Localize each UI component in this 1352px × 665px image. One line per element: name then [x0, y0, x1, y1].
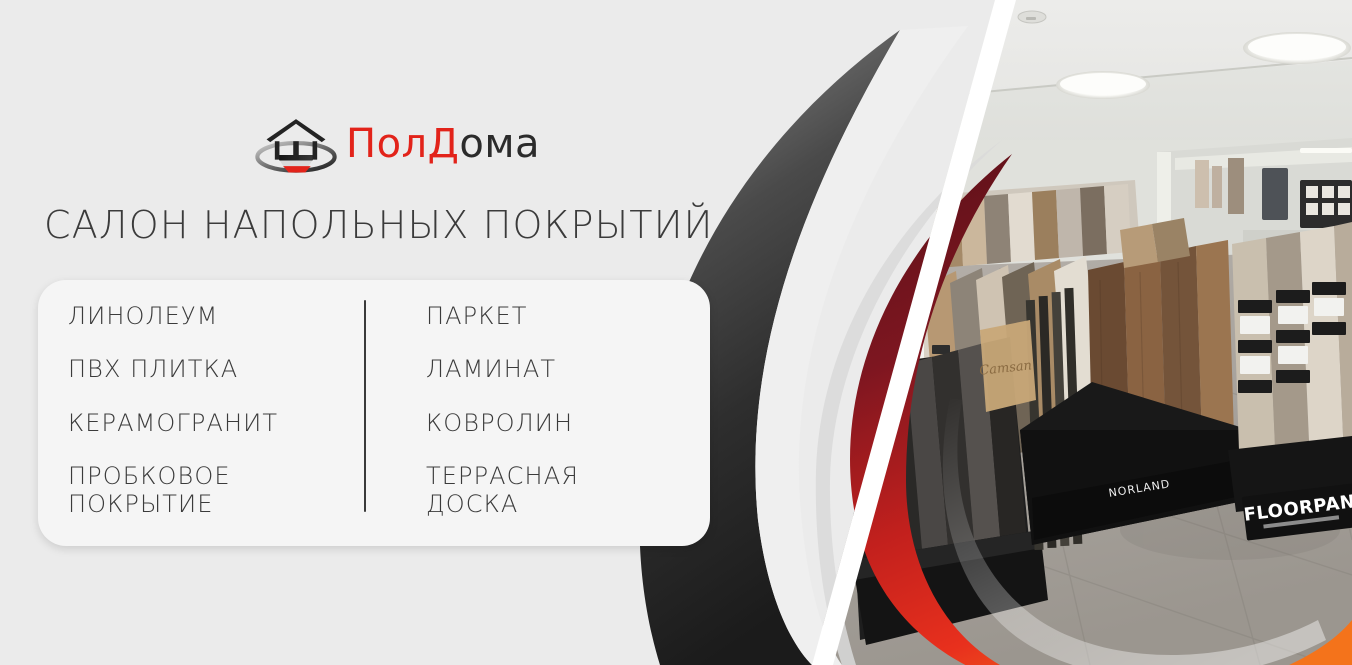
- categories-right-column: ПАРКЕТ ЛАМИНАТ КОВРОЛИН ТЕРРАСНАЯ ДОСКА: [374, 280, 710, 546]
- categories-left-column: ЛИНОЛЕУМ ПВХ ПЛИТКА КЕРАМОГРАНИТ ПРОБКОВ…: [38, 280, 374, 546]
- brand-name: ПолДома: [346, 124, 540, 164]
- page-title: САЛОН НАПОЛЬНЫХ ПОКРЫТИЙ: [44, 203, 714, 247]
- category-item[interactable]: ЛИНОЛЕУМ: [68, 302, 374, 330]
- category-item[interactable]: КОВРОЛИН: [426, 409, 710, 437]
- categories-card: ЛИНОЛЕУМ ПВХ ПЛИТКА КЕРАМОГРАНИТ ПРОБКОВ…: [38, 280, 710, 546]
- category-item[interactable]: ПРОБКОВОЕ ПОКРЫТИЕ: [68, 462, 374, 519]
- brand-name-red-2: Д: [428, 121, 460, 167]
- banner-root: NORLAND: [0, 0, 1352, 665]
- house-floor-logo-icon: [250, 113, 342, 175]
- brand-name-dark: ома: [459, 121, 540, 167]
- category-item[interactable]: КЕРАМОГРАНИТ: [68, 409, 374, 437]
- category-item[interactable]: ЛАМИНАТ: [426, 355, 710, 383]
- category-item[interactable]: ПАРКЕТ: [426, 302, 710, 330]
- category-item[interactable]: ПВХ ПЛИТКА: [68, 355, 374, 383]
- left-content-panel: ПолДома САЛОН НАПОЛЬНЫХ ПОКРЫТИЙ ЛИНОЛЕУ…: [0, 0, 720, 665]
- brand-logo[interactable]: ПолДома: [250, 112, 490, 176]
- column-divider: [364, 300, 366, 512]
- brand-name-red-1: Пол: [346, 121, 428, 167]
- category-item[interactable]: ТЕРРАСНАЯ ДОСКА: [426, 462, 710, 519]
